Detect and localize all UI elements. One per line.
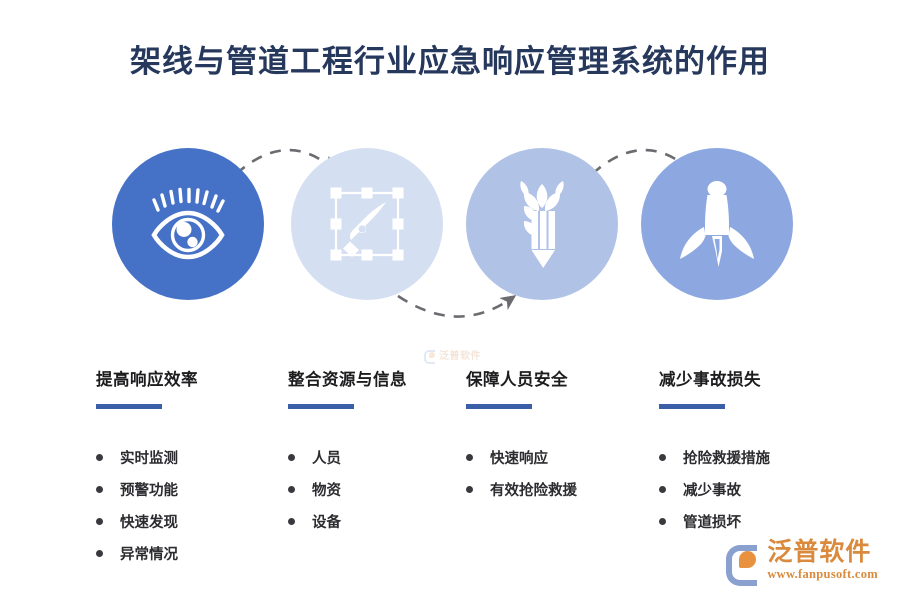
list-item: 预警功能 (96, 479, 276, 500)
column-4-rule (659, 404, 725, 409)
column-3-heading: 保障人员安全 (466, 366, 646, 390)
bullet-icon (466, 454, 473, 461)
list-item-label: 物资 (312, 479, 341, 500)
column-4: 减少事故损失 抢险救援措施 减少事故 管道损坏 (659, 366, 849, 543)
list-item-label: 设备 (312, 511, 341, 532)
list-item: 实时监测 (96, 447, 276, 468)
bullet-icon (288, 454, 295, 461)
list-item-label: 快速响应 (490, 447, 548, 468)
watermark-logo-mark (424, 349, 436, 361)
list-item: 人员 (288, 447, 468, 468)
bullet-icon (466, 486, 473, 493)
pen-tool-icon (328, 185, 406, 263)
list-item-label: 有效抢险救援 (490, 479, 577, 500)
bullet-icon (96, 486, 103, 493)
logo-name: 泛普软件 (767, 538, 871, 566)
rocket-icon (673, 179, 761, 269)
list-item-label: 抢险救援措施 (683, 447, 770, 468)
list-item: 有效抢险救援 (466, 479, 646, 500)
column-1-heading: 提高响应效率 (96, 366, 276, 390)
column-2-rule (288, 404, 354, 409)
brand-logo[interactable]: 泛普软件 www.fanpusoft.com (726, 540, 878, 581)
column-2-heading: 整合资源与信息 (288, 366, 468, 390)
flow-step-2-circle[interactable] (291, 148, 443, 300)
flow-step-1-circle[interactable] (112, 148, 264, 300)
list-item: 物资 (288, 479, 468, 500)
page-title: 架线与管道工程行业应急响应管理系统的作用 (0, 36, 900, 81)
detail-columns: 提高响应效率 实时监测 预警功能 快速发现 异常情况 (0, 366, 900, 566)
column-1-rule (96, 404, 162, 409)
watermark-text: 泛普软件 (439, 347, 481, 362)
list-item: 异常情况 (96, 543, 276, 564)
column-2: 整合资源与信息 人员 物资 设备 (288, 366, 468, 543)
column-3-list: 快速响应 有效抢险救援 (466, 447, 646, 500)
bullet-icon (659, 518, 666, 525)
logo-url: www.fanpusoft.com (767, 568, 878, 581)
pen-nib (343, 202, 386, 257)
eye-icon (145, 187, 231, 261)
flow-step-3-circle[interactable] (466, 148, 618, 300)
bullet-icon (659, 486, 666, 493)
list-item: 减少事故 (659, 479, 849, 500)
bullet-icon (659, 454, 666, 461)
flow-step-4-circle[interactable] (641, 148, 793, 300)
column-1-list: 实时监测 预警功能 快速发现 异常情况 (96, 447, 276, 564)
list-item: 快速发现 (96, 511, 276, 532)
plant-pencil-icon (506, 178, 578, 270)
list-item-label: 人员 (312, 447, 341, 468)
bullet-icon (96, 518, 103, 525)
flow-circles (0, 148, 900, 308)
list-item: 快速响应 (466, 447, 646, 468)
logo-text-block: 泛普软件 www.fanpusoft.com (767, 540, 878, 581)
list-item: 管道损坏 (659, 511, 849, 532)
list-item-label: 预警功能 (120, 479, 178, 500)
list-item-label: 异常情况 (120, 543, 178, 564)
center-watermark: 泛普软件 (424, 347, 481, 362)
column-4-list: 抢险救援措施 减少事故 管道损坏 (659, 447, 849, 532)
column-1: 提高响应效率 实时监测 预警功能 快速发现 异常情况 (96, 366, 276, 575)
bullet-icon (96, 550, 103, 557)
list-item-label: 管道损坏 (683, 511, 741, 532)
list-item-label: 实时监测 (120, 447, 178, 468)
fanpu-logo-icon (726, 543, 760, 577)
bullet-icon (288, 486, 295, 493)
list-item-label: 减少事故 (683, 479, 741, 500)
bullet-icon (96, 454, 103, 461)
column-2-list: 人员 物资 设备 (288, 447, 468, 532)
list-item-label: 快速发现 (120, 511, 178, 532)
column-3-rule (466, 404, 532, 409)
pencil-body (532, 211, 556, 268)
infographic-page: 架线与管道工程行业应急响应管理系统的作用 (0, 0, 900, 600)
column-3: 保障人员安全 快速响应 有效抢险救援 (466, 366, 646, 511)
list-item: 设备 (288, 511, 468, 532)
column-4-heading: 减少事故损失 (659, 366, 849, 390)
list-item: 抢险救援措施 (659, 447, 849, 468)
bullet-icon (288, 518, 295, 525)
